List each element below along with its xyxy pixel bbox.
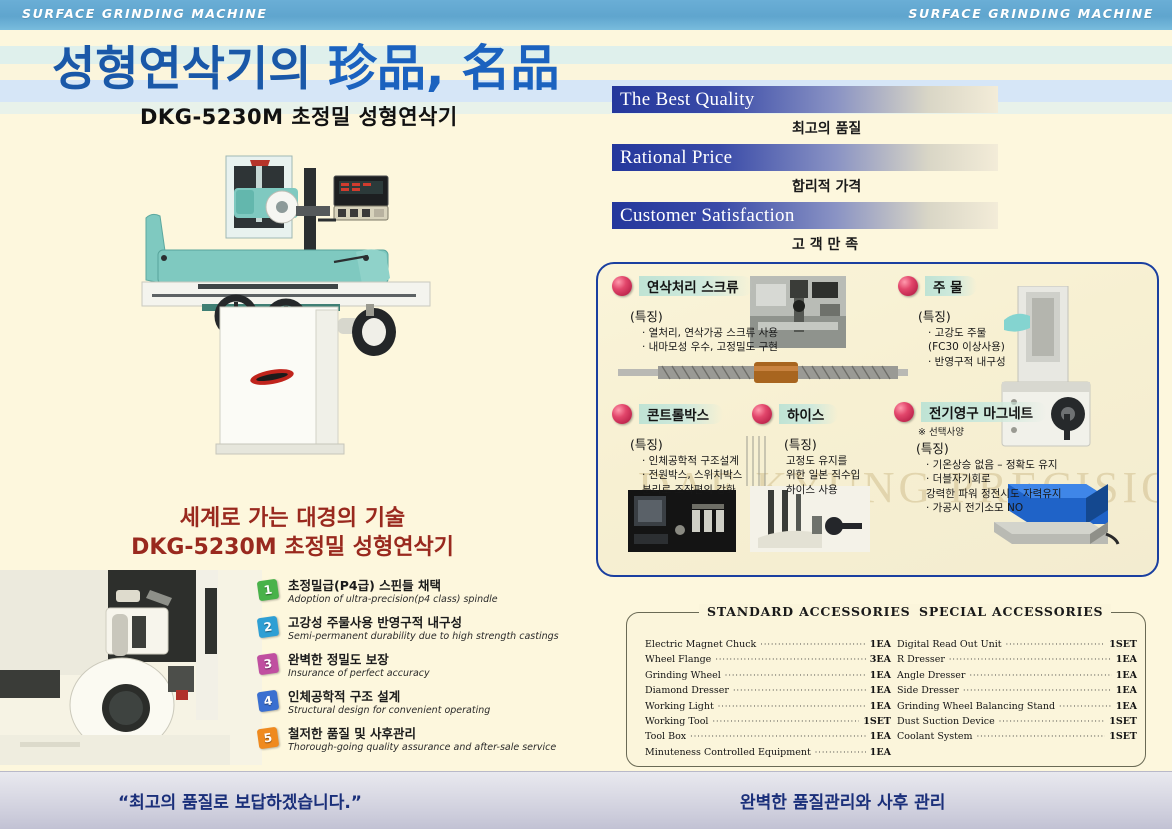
acc-name: Wheel Flange [645,652,711,667]
headline-part1: 성형연삭기의 [52,42,328,97]
quality-bar: Rational Price [612,144,998,171]
acc-name: Electric Magnet Chuck [645,637,756,652]
acc-name: Angle Dresser [897,668,965,683]
acc-name: Side Dresser [897,683,959,698]
block-head: (특징) [916,438,949,457]
block-line: · 반영구적 내구성 [928,355,1006,369]
acc-dots: ········································… [712,716,859,729]
panel-block-title: 콘트롤박스 [612,404,723,424]
block-title-text: 전기영구 마그네트 [921,402,1047,422]
feature-title-ko: 초정밀급(P4급) 스핀들 채택 [288,578,588,594]
feature-title-ko: 인체공학적 구조 설계 [288,689,588,705]
block-option-note: ※ 선택사양 [918,424,964,438]
block-title-text: 주 물 [925,276,977,296]
quality-bar: Customer Satisfaction [612,202,998,229]
acc-dots: ········································… [725,670,866,683]
acc-qty: 1EA [1116,683,1137,698]
table-row: Grinding Wheel Balancing Stand··········… [897,699,1137,714]
footer-right-text: 완벽한 품질관리와 사후 관리 [740,788,945,813]
block-line: · 가공시 전기소모 NO [926,501,1062,515]
acc-name: Dust Suction Device [897,714,995,729]
block-line: · 전원박스, 스위치박스 [642,468,742,482]
acc-qty: 1SET [1109,714,1137,729]
block-line: · 고강도 주물 [928,326,1006,340]
acc-qty: 1EA [1116,699,1137,714]
block-line: · 기온상승 없음 – 정확도 유지 [926,458,1062,472]
acc-dots: ········································… [949,654,1112,667]
feature-title-en: Semi-permanent durability due to high st… [288,631,588,643]
acc-dots: ········································… [963,685,1112,698]
list-item: 2 고강성 주물사용 반영구적 내구성 Semi-permanent durab… [258,615,588,643]
table-row: Minuteness Controlled Equipment·········… [645,745,891,760]
block-line: · 내마모성 우수, 고정밀도 구현 [642,340,778,354]
feature-title-ko: 완벽한 정밀도 보장 [288,652,588,668]
panel-block-title: 연삭처리 스크류 [612,276,753,296]
casting-photo [988,286,1106,454]
block-line: 강력한 파워 정전시도 자력유지 [926,487,1062,501]
block-lines: · 기온상승 없음 – 정확도 유지 · 더블자기회로 강력한 파워 정전시도 … [926,458,1062,516]
acc-qty: 1EA [870,637,891,652]
quality-label-en: Customer Satisfaction [612,205,795,227]
bullet-ball-icon [612,276,632,296]
block-title-text: 연삭처리 스크류 [639,276,753,296]
headline-part2: 珍品, 名品 [328,40,560,97]
acc-dots: ········································… [1059,701,1112,714]
block-head: (특징) [630,306,663,325]
feature-title-en: Structural design for convenient operati… [288,705,588,717]
quality-label-en: The Best Quality [612,89,755,111]
acc-qty: 1EA [870,699,891,714]
block-line: 분리로 조작편의 강화 [642,483,742,497]
acc-name: Coolant System [897,729,973,744]
acc-qty: 1SET [1109,637,1137,652]
feature-number-badge: 5 [257,727,280,750]
acc-dots: ········································… [760,639,865,652]
acc-dots: ········································… [715,654,865,667]
feature-number-badge: 1 [257,579,280,602]
model-subtitle: DKG-5230M 초정밀 성형연삭기 [140,101,600,131]
acc-name: Working Light [645,699,714,714]
hss-bars-decor [743,436,769,486]
footer-bar: “최고의 품질로 보답하겠습니다.” 완벽한 품질관리와 사후 관리 [0,771,1172,829]
list-item: 3 완벽한 정밀도 보장 Insurance of perfect accura… [258,652,588,680]
table-row: Angle Dresser···························… [897,668,1137,683]
block-head: (특징) [630,434,663,453]
quality-label-ko: 고 객 만 족 [612,234,1012,254]
quality-label-ko: 최고의 품질 [612,118,1012,138]
list-item: 1 초정밀급(P4급) 스핀들 채택 Adoption of ultra-pre… [258,578,588,606]
table-row: Coolant System··························… [897,729,1137,744]
acc-qty: 1EA [870,745,891,760]
table-row: Digital Read Out Unit···················… [897,637,1137,652]
top-banner-right-text: SURFACE GRINDING MACHINE [908,6,1154,21]
special-accessories-title: SPECIAL ACCESSORIES [911,604,1111,619]
block-head: (특징) [784,434,817,453]
slogan: 세계로 가는 대경의 기술 DKG-5230M 초정밀 성형연삭기 [0,505,585,562]
bullet-ball-icon [898,276,918,296]
block-lines: · 열처리, 연삭가공 스크류 사용 · 내마모성 우수, 고정밀도 구현 [642,326,778,355]
table-row: Dust Suction Device·····················… [897,714,1137,729]
acc-qty: 1EA [870,729,891,744]
panel-block-title: 주 물 [898,276,977,296]
feature-title-en: Insurance of perfect accuracy [288,668,588,680]
acc-name: R Dresser [897,652,945,667]
feature-title-ko: 고강성 주물사용 반영구적 내구성 [288,615,588,631]
block-line: 고정도 유지를 [786,454,860,468]
block-line: 위한 일본 직수입 [786,468,860,482]
acc-dots: ········································… [690,731,866,744]
acc-qty: 1EA [1116,652,1137,667]
acc-dots: ········································… [977,731,1106,744]
ball-screw-image [618,360,908,386]
top-banner-left-text: SURFACE GRINDING MACHINE [22,6,268,21]
page-title: 성형연삭기의 珍品, 名品 [52,44,572,93]
slogan-line-2: DKG-5230M 초정밀 성형연삭기 [0,534,585,563]
block-line: · 열처리, 연삭가공 스크류 사용 [642,326,778,340]
block-title-text: 콘트롤박스 [639,404,723,424]
block-head: (특징) [918,306,951,325]
machine-photo [138,152,438,497]
acc-qty: 1EA [1116,668,1137,683]
bullet-ball-icon [612,404,632,424]
standard-accessories-list: Electric Magnet Chuck···················… [645,637,891,760]
panel-block-title: 전기영구 마그네트 [894,402,1047,422]
acc-dots: ········································… [1006,639,1106,652]
block-line: · 더블자기회로 [926,472,1062,486]
table-row: Working Light···························… [645,699,891,714]
acc-name: Minuteness Controlled Equipment [645,745,811,760]
feature-title-en: Thorough-going quality assurance and aft… [288,742,588,754]
acc-qty: 1EA [870,683,891,698]
quality-bar: The Best Quality [612,86,998,113]
accessories-box: STANDARD ACCESSORIES SPECIAL ACCESSORIES… [626,612,1146,767]
acc-dots: ········································… [999,716,1106,729]
acc-name: Grinding Wheel [645,668,721,683]
feature-number-badge: 4 [257,690,280,713]
bullet-ball-icon [752,404,772,424]
list-item: 4 인체공학적 구조 설계 Structural design for conv… [258,689,588,717]
acc-name: Diamond Dresser [645,683,729,698]
feature-title-en: Adoption of ultra-precision(p4 class) sp… [288,594,588,606]
block-line: 하이스 사용 [786,483,860,497]
block-line: (FC30 이상사용) [928,340,1006,354]
quality-label-en: Rational Price [612,147,732,169]
table-row: Side Dresser····························… [897,683,1137,698]
block-lines: 고정도 유지를 위한 일본 직수입 하이스 사용 [786,454,860,497]
feature-panel: DAE KYUNG PRECISION [596,262,1159,577]
slogan-line-1: 세계로 가는 대경의 기술 [0,505,585,534]
bullet-ball-icon [894,402,914,422]
closeup-photo [0,570,262,765]
feature-title-ko: 철저한 품질 및 사후관리 [288,726,588,742]
table-row: R Dresser·······························… [897,652,1137,667]
block-lines: · 인체공학적 구조설계 · 전원박스, 스위치박스 분리로 조작편의 강화 [642,454,742,497]
table-row: Wheel Flange····························… [645,652,891,667]
acc-name: Digital Read Out Unit [897,637,1002,652]
feature-number-badge: 3 [257,653,280,676]
table-row: Diamond Dresser·························… [645,683,891,698]
acc-dots: ········································… [733,685,866,698]
block-title-text: 하이스 [779,404,838,424]
feature-number-badge: 2 [257,616,280,639]
list-item: 5 철저한 품질 및 사후관리 Thorough-going quality a… [258,726,588,754]
panel-block-title: 하이스 [752,404,838,424]
acc-qty: 1SET [1109,729,1137,744]
acc-qty: 1SET [863,714,891,729]
special-accessories-list: Digital Read Out Unit···················… [897,637,1137,745]
quality-label-ko: 합리적 가격 [612,176,1012,196]
table-row: Tool Box································… [645,729,891,744]
acc-name: Working Tool [645,714,708,729]
table-row: Working Tool····························… [645,714,891,729]
feature-list: 1 초정밀급(P4급) 스핀들 채택 Adoption of ultra-pre… [258,578,588,763]
poster-page: SURFACE GRINDING MACHINE SURFACE GRINDIN… [0,0,1172,829]
control-box-photo [628,490,736,552]
table-row: Electric Magnet Chuck···················… [645,637,891,652]
acc-name: Grinding Wheel Balancing Stand [897,699,1055,714]
block-lines: · 고강도 주물 (FC30 이상사용) · 반영구적 내구성 [928,326,1006,369]
quality-banners: The Best Quality 최고의 품질 Rational Price 합… [612,86,1012,260]
acc-name: Tool Box [645,729,686,744]
acc-dots: ········································… [969,670,1111,683]
table-row: Grinding Wheel··························… [645,668,891,683]
acc-qty: 1EA [870,668,891,683]
block-line: · 인체공학적 구조설계 [642,454,742,468]
top-banner: SURFACE GRINDING MACHINE SURFACE GRINDIN… [0,0,1172,30]
acc-qty: 3EA [870,652,891,667]
acc-dots: ········································… [815,747,866,760]
footer-left-text: “최고의 품질로 보답하겠습니다.” [118,788,362,813]
standard-accessories-title: STANDARD ACCESSORIES [699,604,918,619]
acc-dots: ········································… [718,701,866,714]
